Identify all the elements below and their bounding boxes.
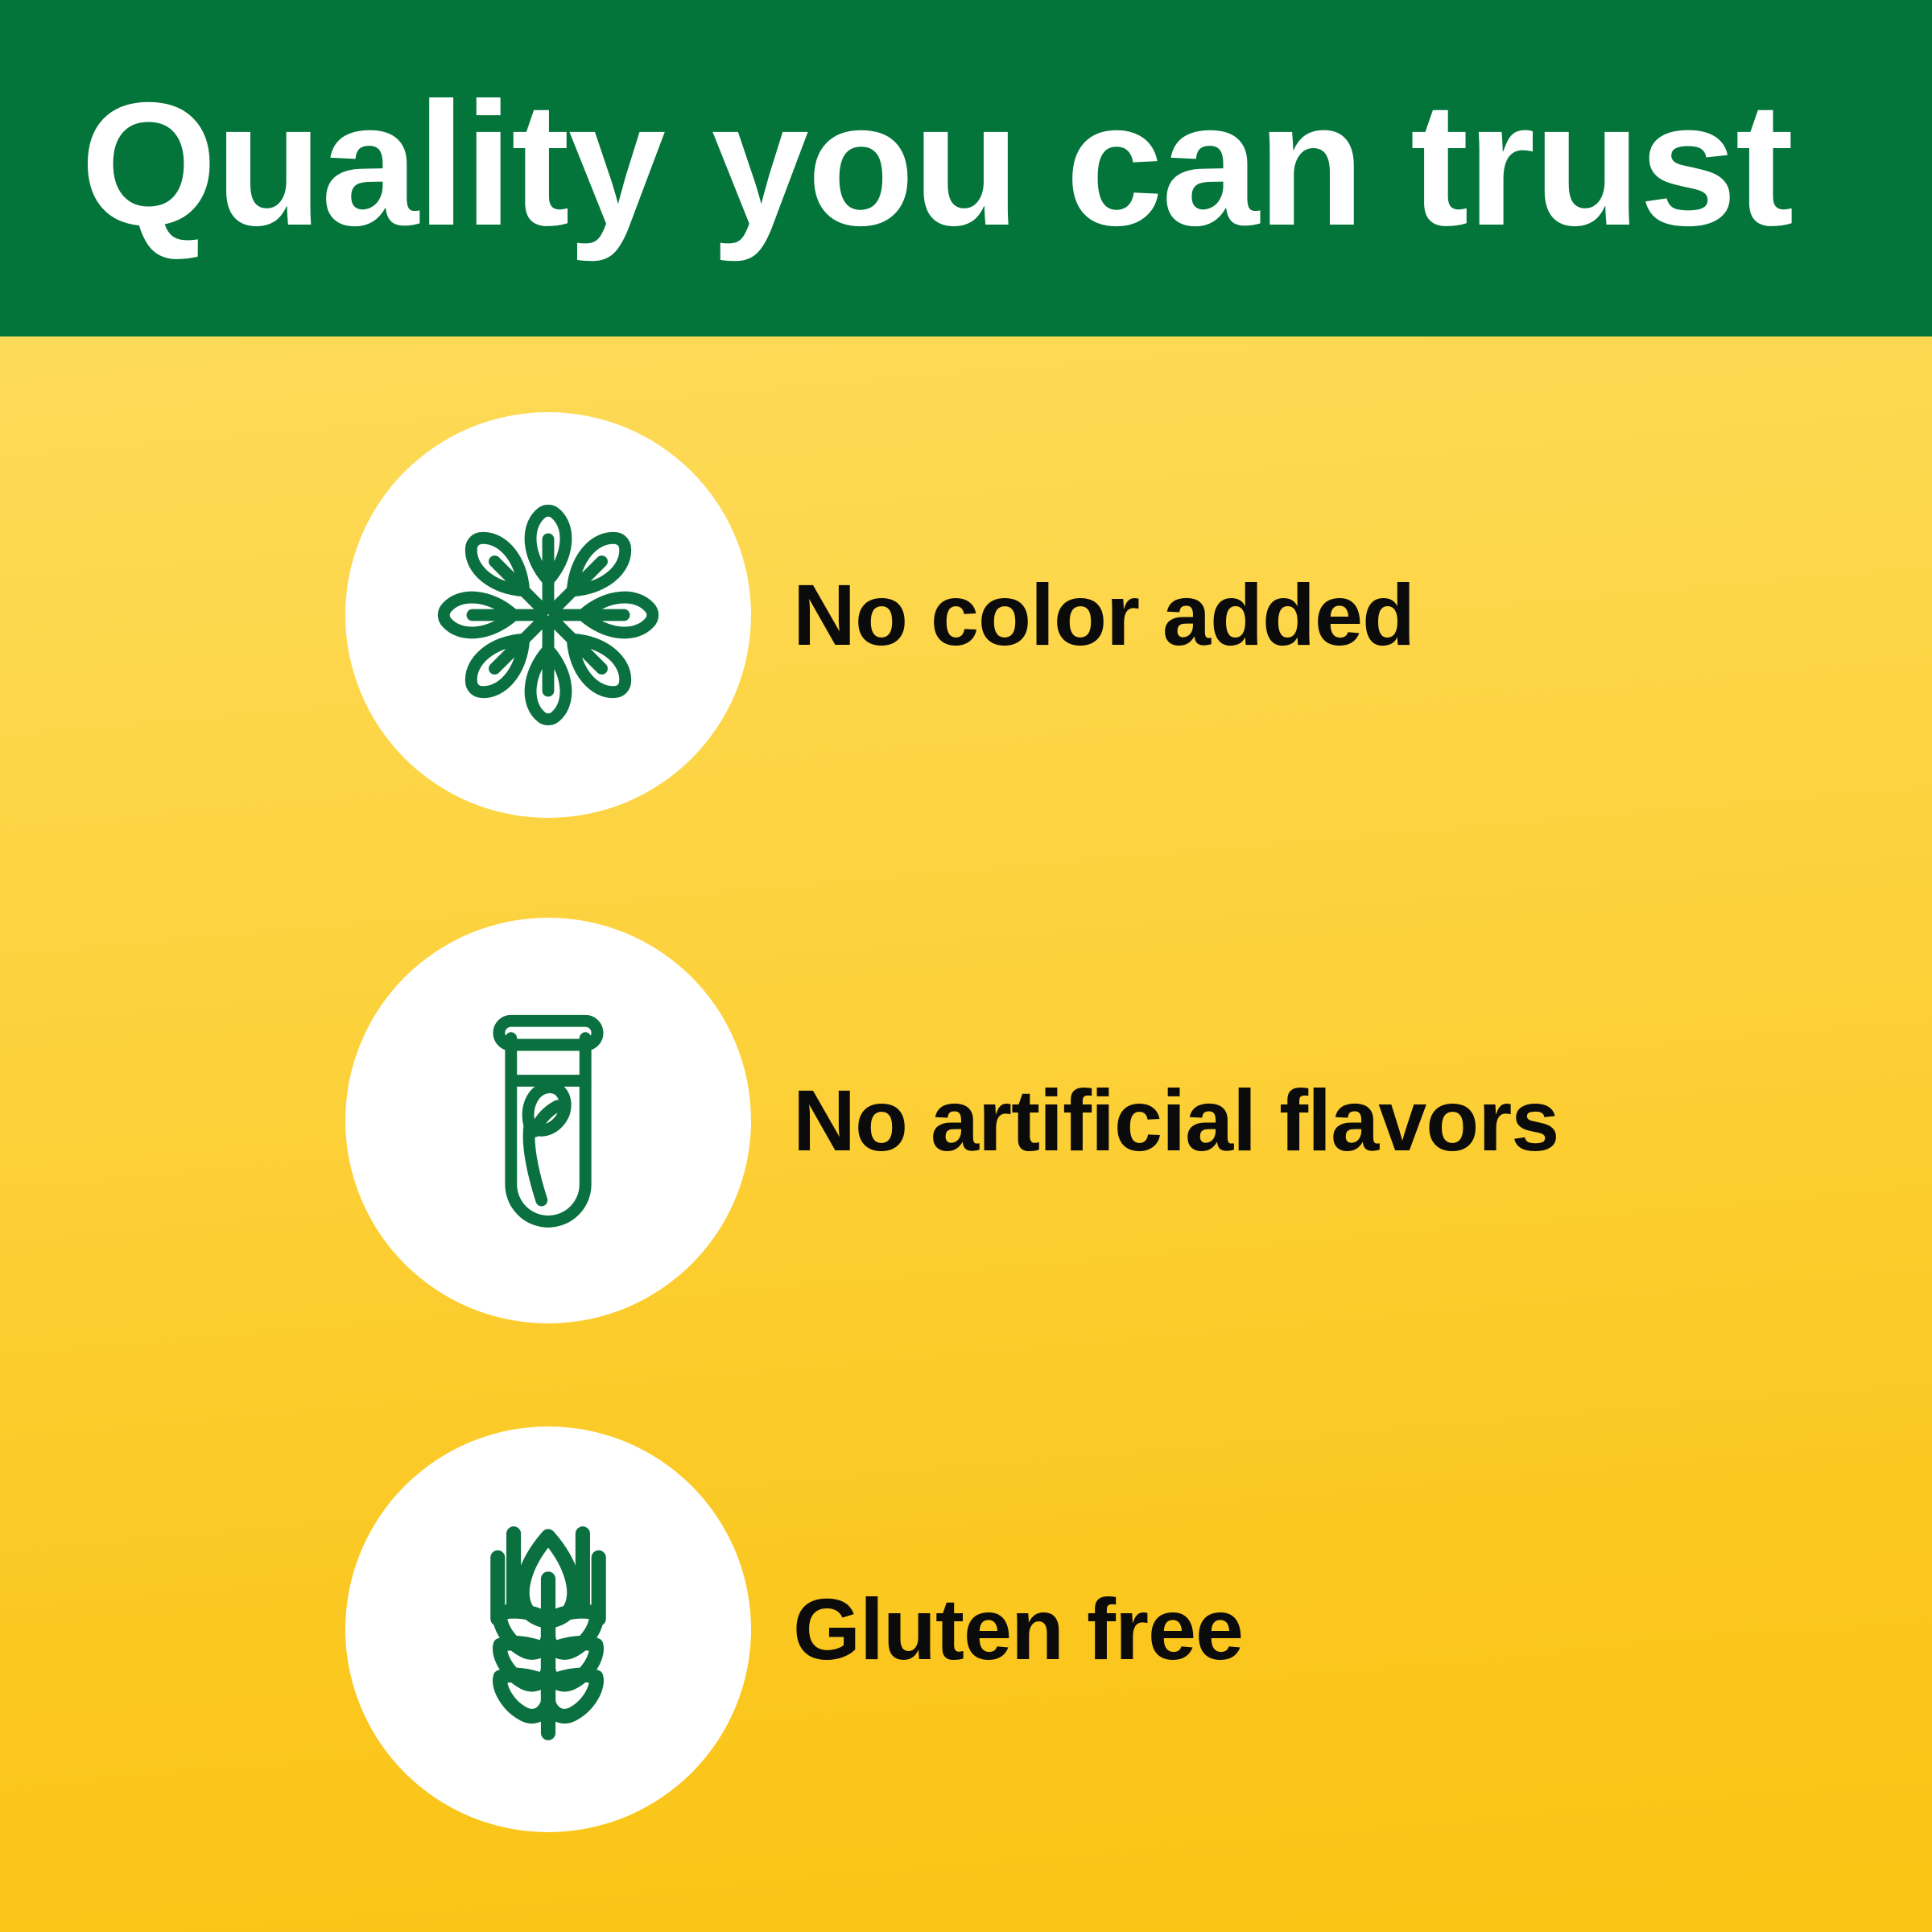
quality-badges-graphic: Quality you can trust xyxy=(0,0,1932,1932)
feature-row: No color added xyxy=(0,412,1932,818)
icon-badge-no-color-added xyxy=(345,412,751,818)
test-tube-leaf-icon xyxy=(415,988,681,1253)
feature-row: Gluten free xyxy=(0,1426,1932,1832)
wheat-stalk-icon xyxy=(415,1496,681,1762)
feature-label-gluten-free: Gluten free xyxy=(793,1426,1243,1832)
feature-row: No artificial flavors xyxy=(0,918,1932,1323)
feature-label-no-artificial-flavors: No artificial flavors xyxy=(793,918,1558,1323)
icon-badge-no-artificial-flavors xyxy=(345,918,751,1323)
flower-petals-icon xyxy=(415,482,681,748)
icon-badge-gluten-free xyxy=(345,1426,751,1832)
header-band: Quality you can trust xyxy=(0,0,1932,336)
feature-label-no-color-added: No color added xyxy=(793,412,1414,818)
page-title: Quality you can trust xyxy=(80,40,1868,290)
